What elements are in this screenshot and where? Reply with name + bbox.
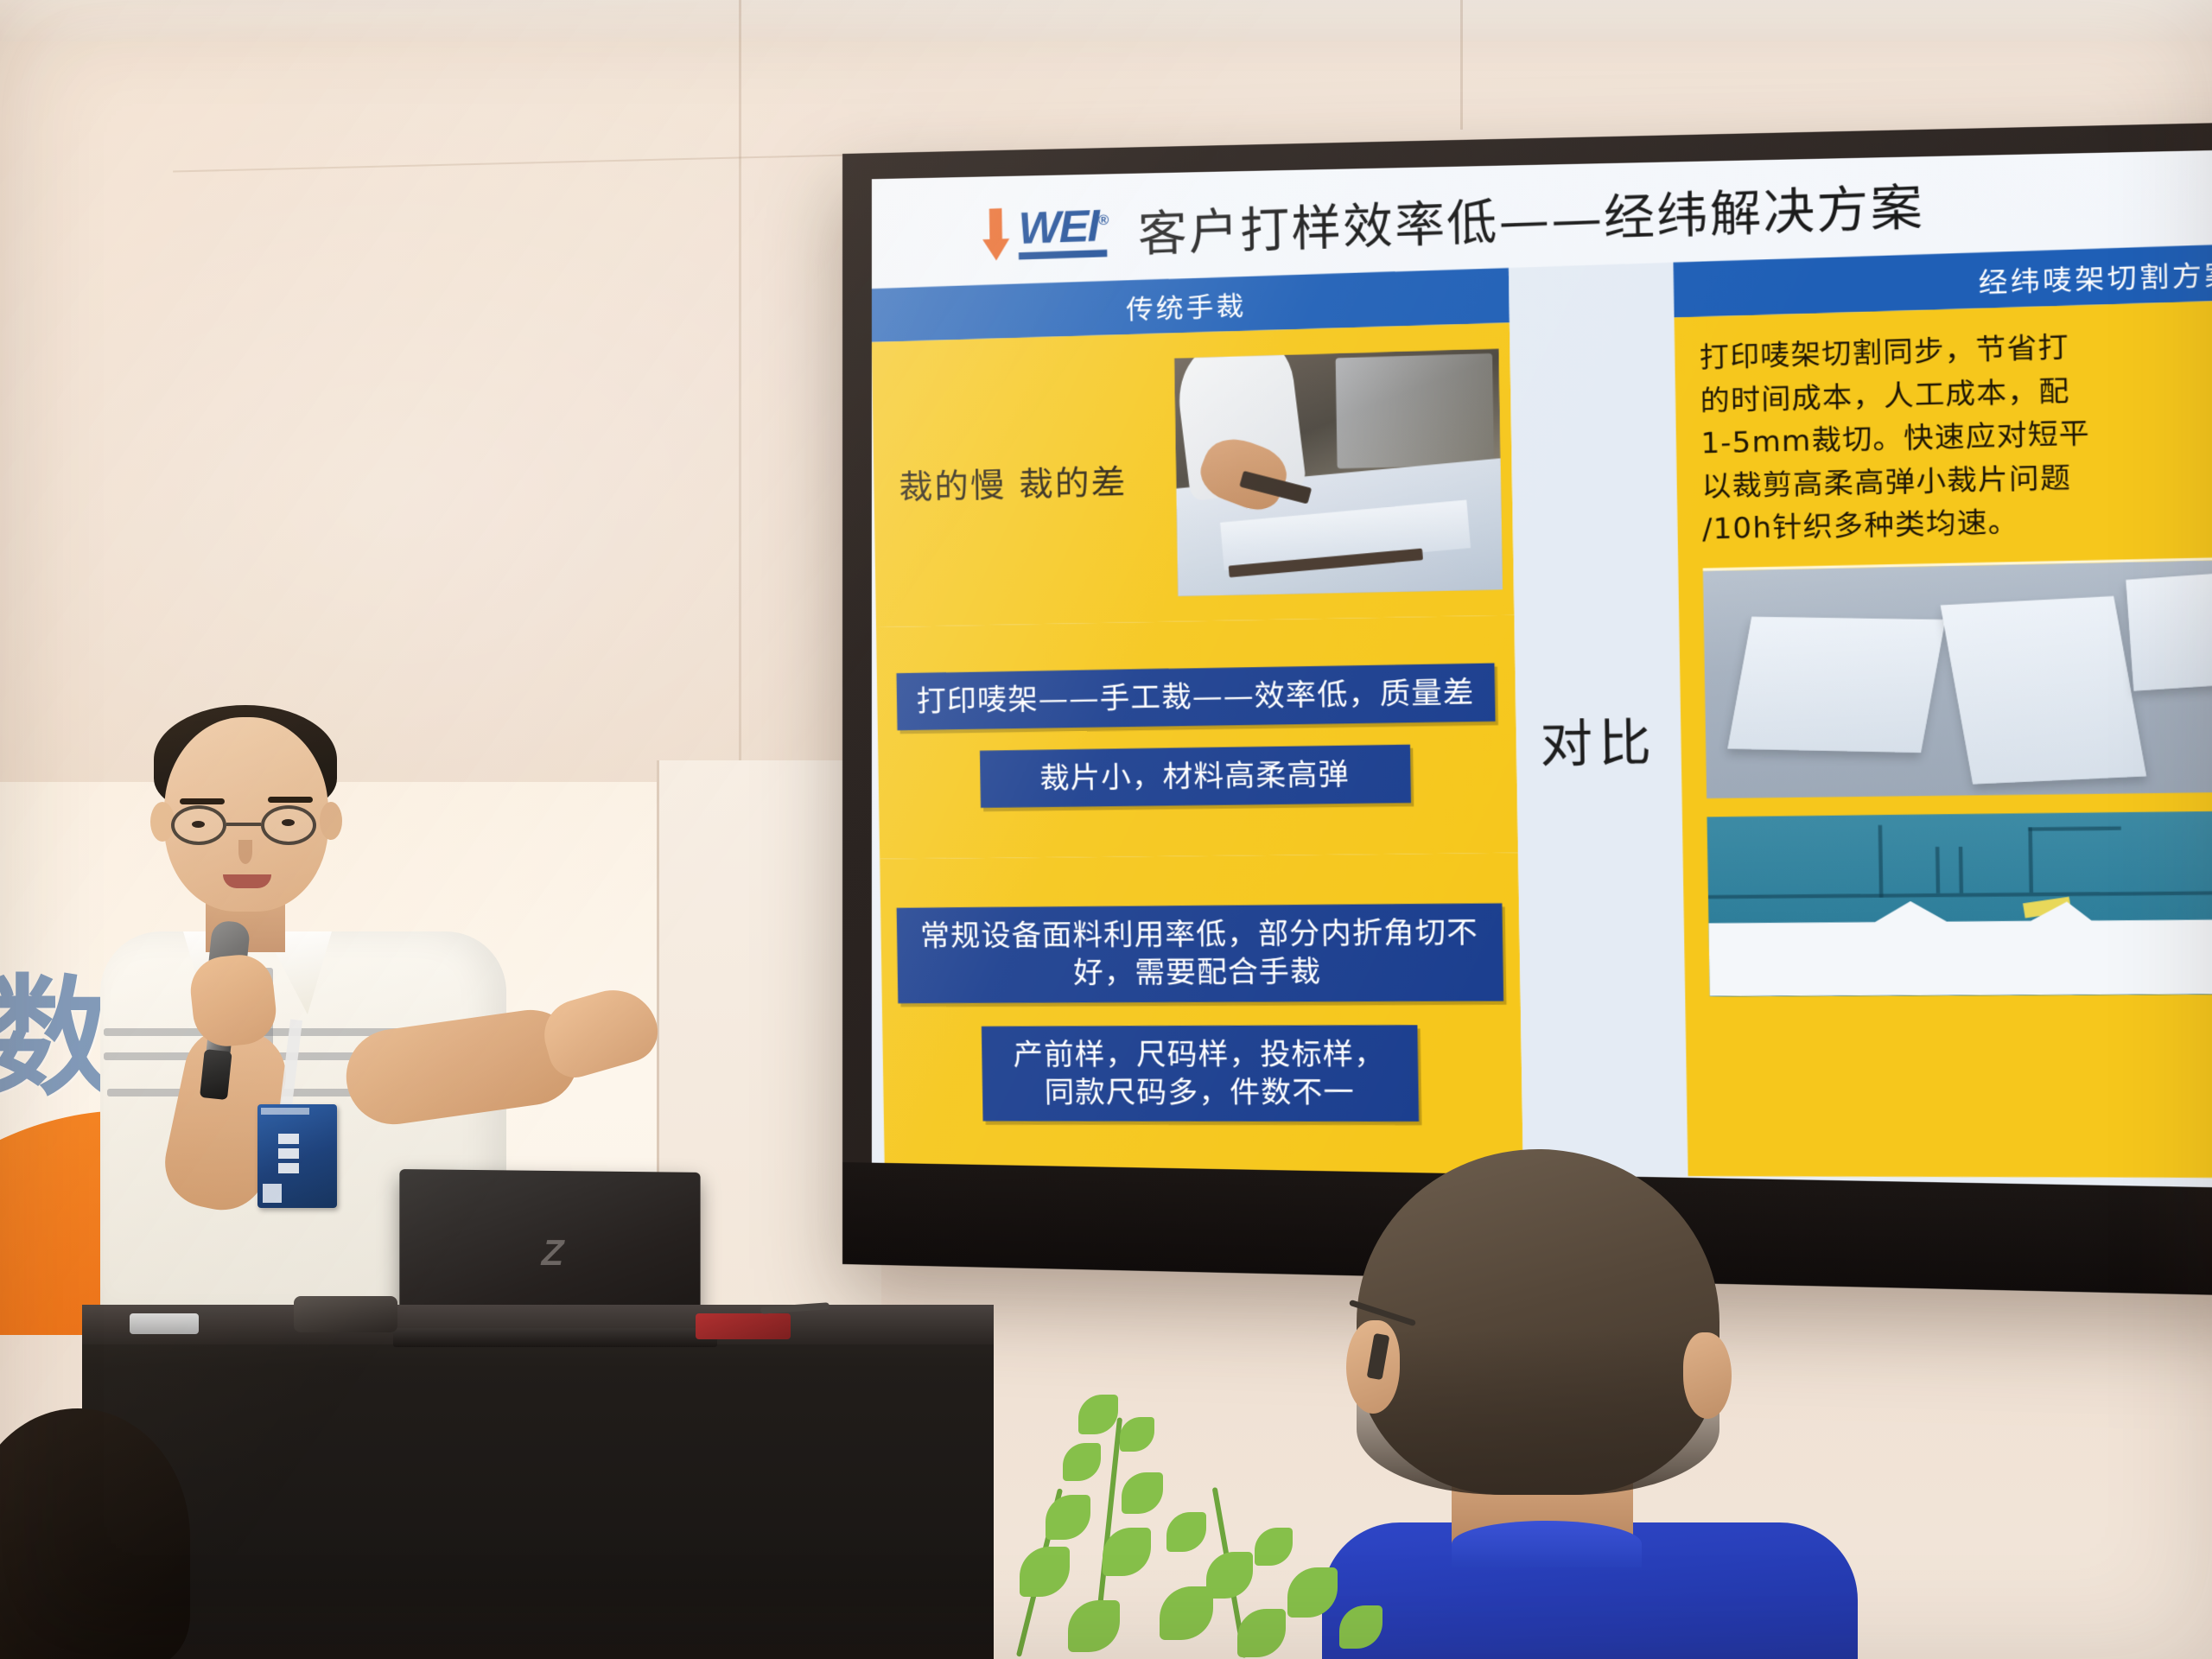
podium-desk bbox=[82, 1305, 994, 1659]
hand-cutting-photo bbox=[1173, 346, 1504, 598]
plant-leaf bbox=[1120, 1417, 1154, 1452]
presenter-eye-right bbox=[282, 819, 295, 826]
teal-guide-line bbox=[2028, 828, 2033, 893]
plant-leaf bbox=[1046, 1495, 1090, 1540]
plant-leaf bbox=[1063, 1443, 1101, 1481]
registered-mark: ® bbox=[1098, 213, 1108, 228]
teal-guide-line bbox=[1959, 846, 1963, 893]
badge-name-lines bbox=[278, 1134, 299, 1177]
j-arrow-icon bbox=[978, 208, 1014, 262]
slide-title: 客户打样效率低——经纬解决方案 bbox=[1137, 166, 1924, 265]
presenter-mouth bbox=[223, 874, 271, 888]
presenter-right-hand bbox=[536, 980, 664, 1084]
callout-bar: 常规设备面料利用率低，部分内折角切不好，需要配合手裁 bbox=[897, 903, 1504, 1002]
plant-leaf bbox=[1206, 1552, 1253, 1599]
presentation-slide: WEI® 客户打样效率低——经纬解决方案 传统手裁 裁的慢 裁的差 bbox=[872, 149, 2212, 1188]
column-comparison: 对比 bbox=[1509, 263, 1688, 1176]
audience-eyeglasses-icon bbox=[1348, 1305, 1427, 1370]
presenter-left-hand bbox=[188, 951, 279, 1049]
phone-on-desk[interactable] bbox=[696, 1313, 791, 1339]
callout-bar: 裁片小，材料高柔高弹 bbox=[980, 745, 1411, 809]
desk-device[interactable] bbox=[294, 1296, 397, 1332]
conference-badge bbox=[257, 1104, 337, 1208]
teal-guide-line bbox=[2028, 826, 2121, 830]
cut-pieces-photo bbox=[1703, 556, 2212, 798]
column-jwei-solution: 经纬唛架切割方案 打印唛架切割同步，节省打 的时间成本，人工成本，配 1-5mm… bbox=[1674, 243, 2212, 1178]
logo-wordmark: WEI® bbox=[1018, 205, 1108, 259]
qr-code-icon bbox=[263, 1184, 282, 1203]
plant-leaf bbox=[1020, 1547, 1070, 1597]
plant-leaf bbox=[1068, 1600, 1120, 1652]
callout-bar: 打印唛架——手工裁——效率低，质量差 bbox=[896, 663, 1495, 730]
audience-ear-right bbox=[1683, 1332, 1732, 1419]
audience-collar bbox=[1452, 1521, 1642, 1567]
logo-wordmark-text: WEI bbox=[1018, 200, 1098, 253]
solution-body-panel: 打印唛架切割同步，节省打 的时间成本，人工成本，配 1-5mm裁切。快速应对短平… bbox=[1675, 299, 2212, 1178]
plant-leaf bbox=[1237, 1609, 1286, 1657]
slide-columns: 传统手裁 裁的慢 裁的差 bbox=[872, 243, 2212, 1178]
notch-detail-photo bbox=[1707, 810, 2212, 995]
cut-piece bbox=[2126, 568, 2212, 690]
comparison-label: 对比 bbox=[1516, 701, 1681, 778]
presenter-eye-left bbox=[192, 821, 205, 828]
traditional-callouts-upper: 打印唛架——手工裁——效率低，质量差 裁片小，材料高柔高弹 bbox=[876, 615, 1518, 859]
laptop-brand-logo: Z bbox=[537, 1232, 569, 1274]
foreground-plant bbox=[1011, 1382, 1460, 1659]
presenter-nose bbox=[238, 840, 252, 864]
teal-guide-line bbox=[1935, 847, 1940, 894]
plant-leaf bbox=[1339, 1605, 1382, 1649]
plant-leaf bbox=[1255, 1528, 1293, 1566]
cut-piece bbox=[1941, 596, 2146, 784]
teal-guide-line bbox=[1878, 825, 1883, 898]
plant-leaf bbox=[1078, 1395, 1118, 1434]
plant-leaf bbox=[1287, 1567, 1338, 1618]
column-traditional: 传统手裁 裁的慢 裁的差 bbox=[872, 268, 1523, 1176]
presenter-brow-left bbox=[180, 798, 225, 804]
plant-leaf bbox=[1160, 1586, 1213, 1640]
plant-leaf bbox=[1166, 1512, 1206, 1552]
traditional-top-panel: 裁的慢 裁的差 bbox=[872, 322, 1515, 627]
presenter-brow-right bbox=[268, 797, 313, 803]
photo-scene: 数字 化 WEI® 客户打样效率低——经纬解决方案 bbox=[0, 0, 2212, 1659]
badge-header-strip bbox=[261, 1108, 309, 1115]
white-material-strip bbox=[1707, 898, 2212, 995]
pain-points-text: 裁的慢 裁的差 bbox=[899, 453, 1169, 509]
eyeglass-bridge bbox=[226, 823, 261, 826]
wall-display[interactable]: WEI® 客户打样效率低——经纬解决方案 传统手裁 裁的慢 裁的差 bbox=[842, 121, 2212, 1296]
desk-small-object[interactable] bbox=[130, 1313, 199, 1334]
microphone-base bbox=[200, 1049, 232, 1100]
photo-background-machines bbox=[1336, 353, 1494, 468]
callout-bar: 产前样，尺码样，投标样，同款尺码多，件数不一 bbox=[982, 1025, 1419, 1122]
plant-leaf bbox=[1122, 1472, 1163, 1514]
display-screen: WEI® 客户打样效率低——经纬解决方案 传统手裁 裁的慢 裁的差 bbox=[872, 149, 2212, 1188]
jwei-logo: WEI® bbox=[978, 205, 1107, 261]
cut-piece bbox=[1727, 616, 1945, 753]
traditional-callouts-lower: 常规设备面料利用率低，部分内折角切不好，需要配合手裁 产前样，尺码样，投标样，同… bbox=[880, 853, 1523, 1176]
laptop-base[interactable] bbox=[393, 1328, 717, 1347]
